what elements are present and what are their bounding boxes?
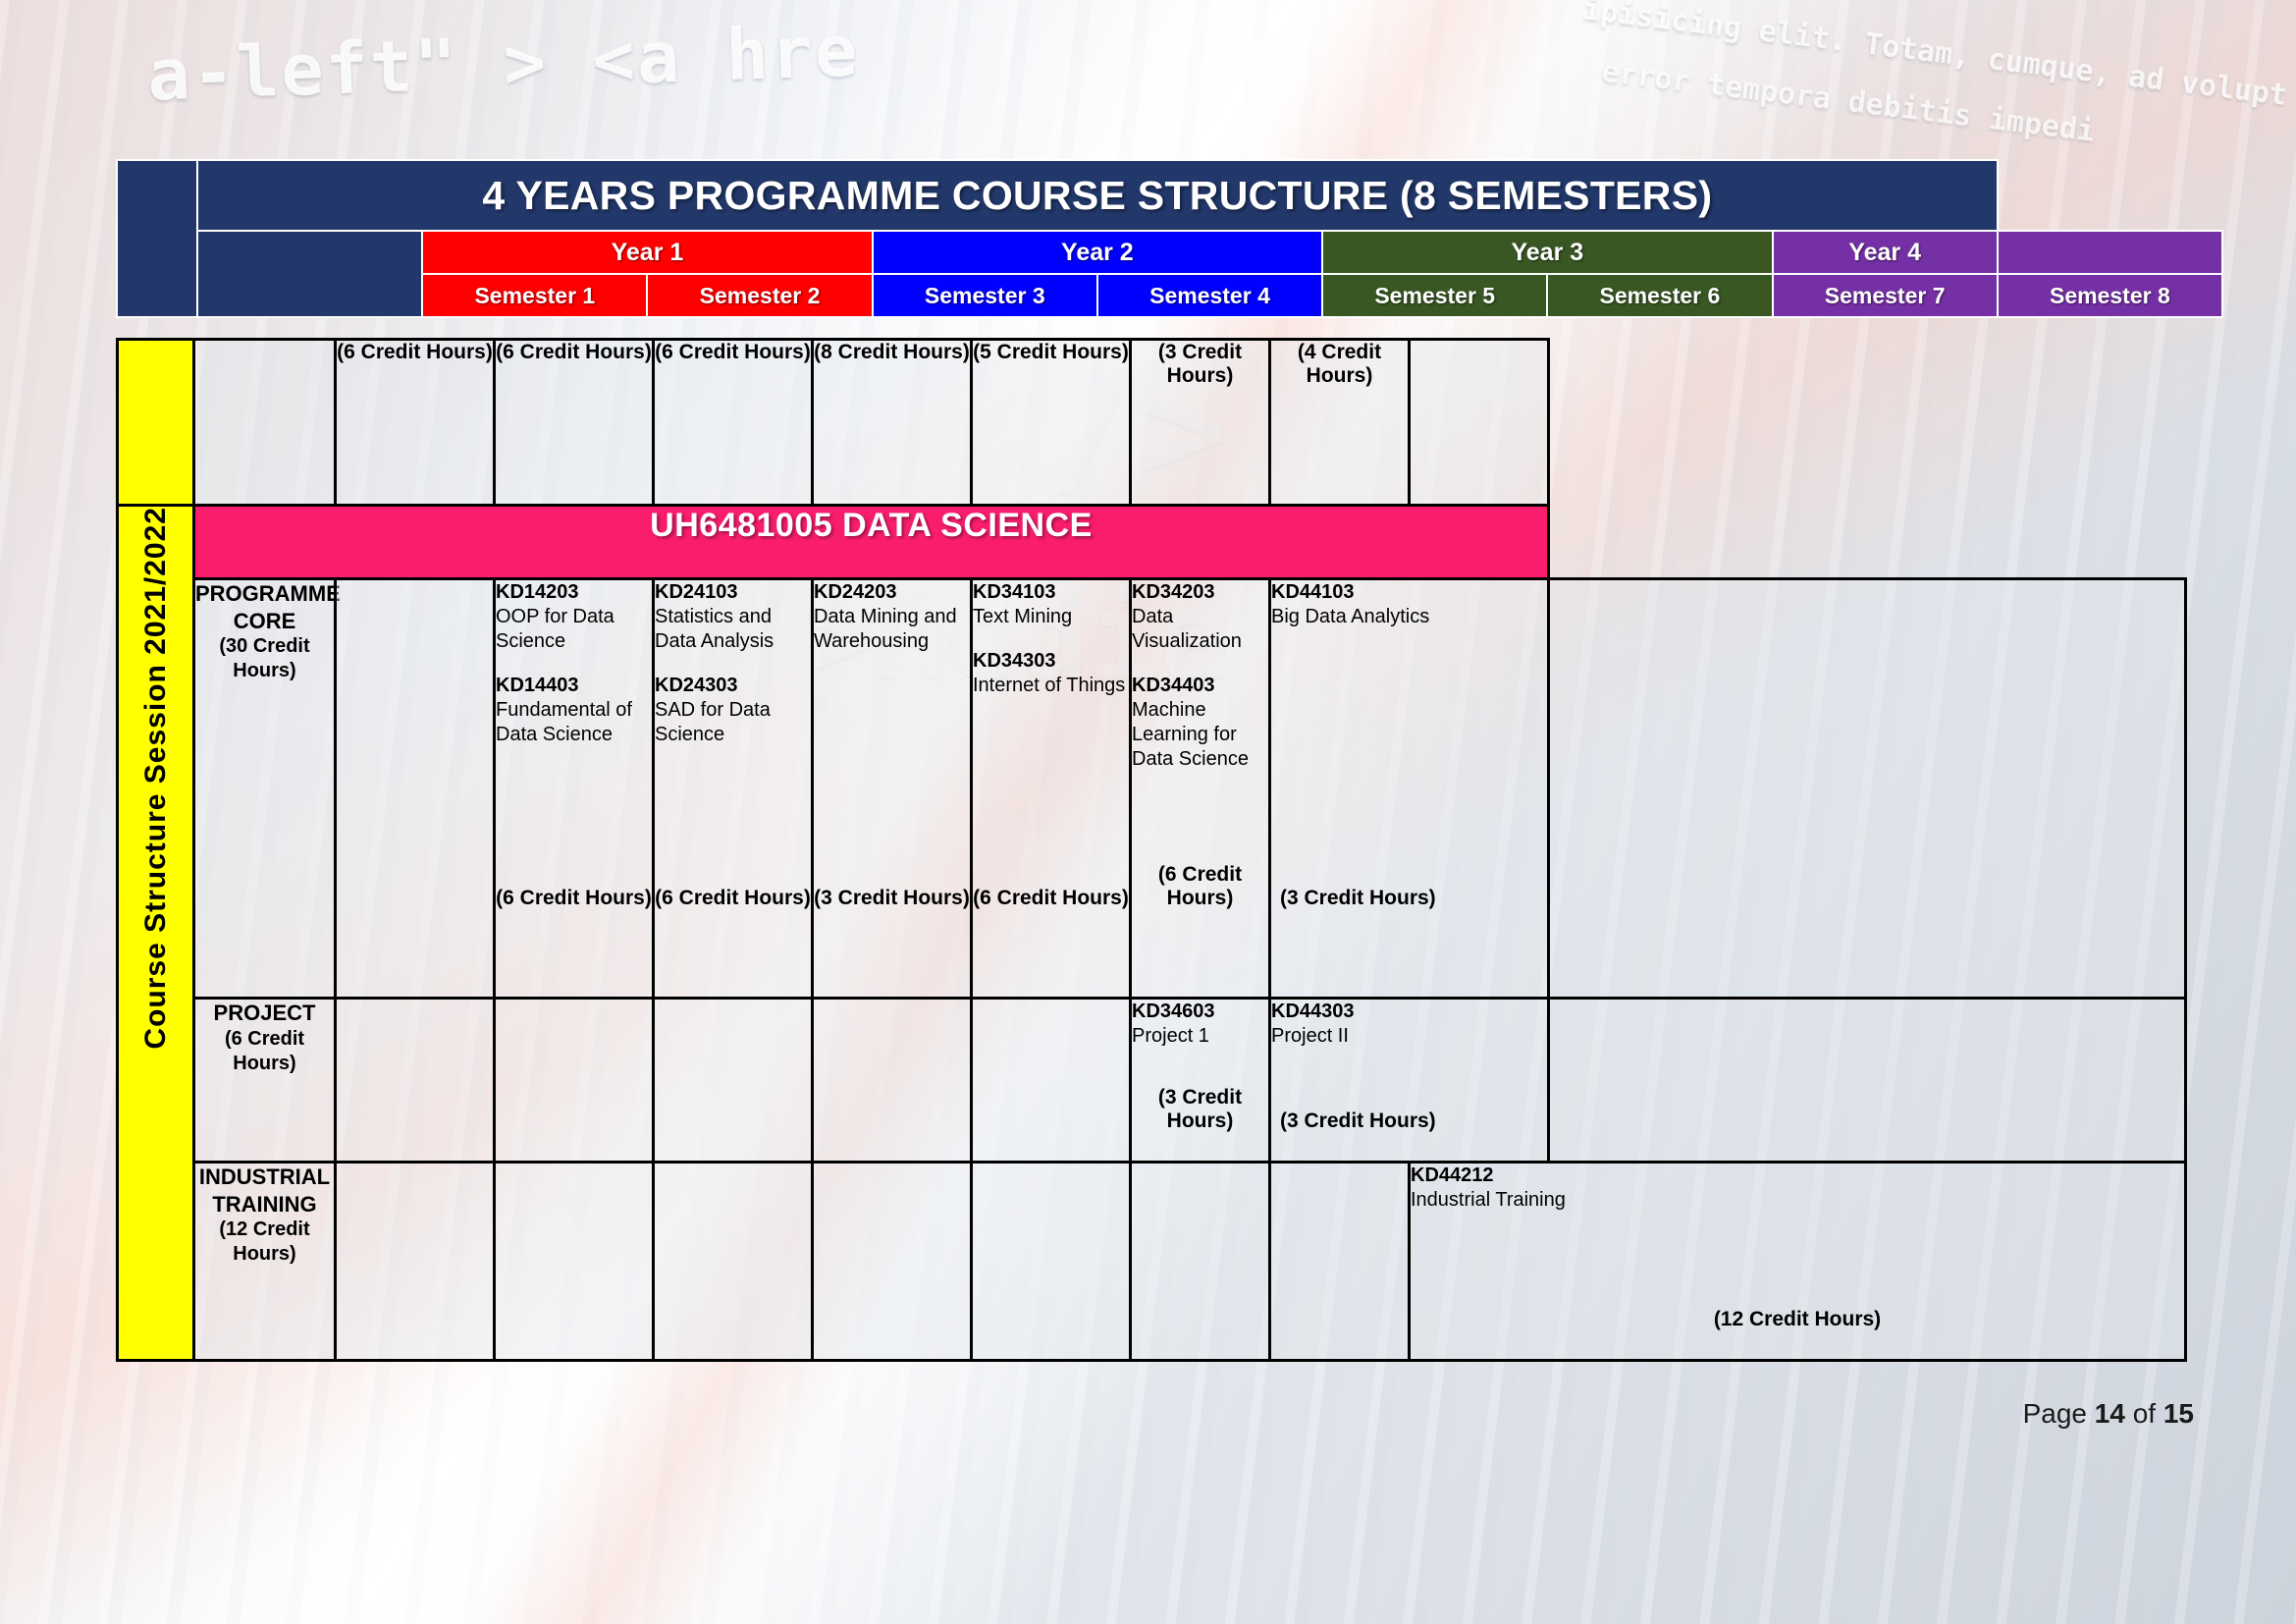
row-label-line4: Hours) <box>195 659 334 683</box>
cell-industrial-sem8: KD44212 Industrial Training (12 Credit H… <box>1410 1163 2186 1361</box>
cell-hours: (3 Credit Hours) <box>1132 1086 1268 1133</box>
semester-header-8: Semester 8 <box>1998 274 2222 317</box>
row-label-line2: (6 Credit Hours) <box>195 1027 334 1076</box>
background-code-text-1: a-left" > <a hre <box>146 9 861 116</box>
course-code: KD34103 <box>973 580 1129 605</box>
course-name: Industrial Training <box>1411 1188 2184 1213</box>
course-code: KD24203 <box>814 580 970 605</box>
course-name: Text Mining <box>973 605 1129 629</box>
semester-header-6: Semester 6 <box>1547 274 1772 317</box>
row-label-programme-core: PROGRAMME CORE (30 Credit Hours) <box>194 579 336 999</box>
row-label-line3: (30 Credit <box>195 634 334 659</box>
course-code: KD24103 <box>655 580 811 605</box>
cell-industrial-sem3 <box>654 1163 813 1361</box>
background-code-text-3: error tempora debitis impedi <box>1600 54 2097 148</box>
cell-industrial-sem1 <box>336 1163 495 1361</box>
course-code: KD34203 <box>1132 580 1268 605</box>
course-name: Internet of Things <box>973 674 1129 698</box>
programme-banner: UH6481005 DATA SCIENCE <box>194 506 1549 579</box>
semester-header-2: Semester 2 <box>647 274 872 317</box>
row-label-line2: TRAINING <box>195 1191 334 1218</box>
cell-core-sem8 <box>1549 579 2186 999</box>
cell-project-sem1 <box>336 999 495 1163</box>
cell-core-sem4: KD24203 Data Mining and Warehousing (3 C… <box>813 579 972 999</box>
footer-current-page: 14 <box>2095 1398 2125 1429</box>
year-header-4: Year 4 <box>1773 231 1998 274</box>
page-title: 4 YEARS PROGRAMME COURSE STRUCTURE (8 SE… <box>197 160 1998 231</box>
cell-industrial-sem7 <box>1270 1163 1410 1361</box>
row-label-line4: Hours) <box>195 1242 334 1267</box>
credit-hours-sem-4: (8 Credit Hours) <box>813 340 972 506</box>
semester-header-1: Semester 1 <box>422 274 647 317</box>
header-corner-blank <box>197 231 422 317</box>
cell-project-sem5 <box>972 999 1131 1163</box>
course-structure-table: (6 Credit Hours) (6 Credit Hours) (6 Cre… <box>116 338 2187 1362</box>
credit-hours-row: (6 Credit Hours) (6 Credit Hours) (6 Cre… <box>118 340 2186 506</box>
cell-core-sem2: KD14203 OOP for Data Science KD14403 Fun… <box>495 579 654 999</box>
credit-hours-sem-5: (5 Credit Hours) <box>972 340 1131 506</box>
semester-header-3: Semester 3 <box>873 274 1097 317</box>
row-label-line2: CORE <box>195 608 334 635</box>
row-label-line1: PROJECT <box>195 1000 334 1027</box>
course-name: Project 1 <box>1132 1024 1268 1049</box>
footer-total-pages: 15 <box>2163 1398 2194 1429</box>
credit-hours-sem-3: (6 Credit Hours) <box>654 340 813 506</box>
year-header-1: Year 1 <box>422 231 872 274</box>
course-name: Machine Learning for Data Science <box>1132 698 1268 772</box>
row-label-line3: (12 Credit <box>195 1218 334 1242</box>
cell-hours: (12 Credit Hours) <box>1411 1308 2184 1331</box>
course-code: KD44103 <box>1271 580 1547 605</box>
footer-middle: of <box>2125 1398 2163 1429</box>
session-sidebar-label: Course Structure Session 2021/2022 <box>139 507 173 1050</box>
row-label-project: PROJECT (6 Credit Hours) <box>194 999 336 1163</box>
course-code: KD34403 <box>1132 674 1268 698</box>
cell-core-sem6: KD34203 Data Visualization KD34403 Machi… <box>1131 579 1270 999</box>
course-name: Project II <box>1271 1024 1547 1049</box>
cell-core-sem7: KD44103 Big Data Analytics (3 Credit Hou… <box>1270 579 1549 999</box>
year-header-3: Year 3 <box>1322 231 1772 274</box>
cell-project-sem8 <box>1549 999 2186 1163</box>
cell-core-sem3: KD24103 Statistics and Data Analysis KD2… <box>654 579 813 999</box>
credit-hours-sem-6: (3 Credit Hours) <box>1131 340 1270 506</box>
course-code: KD34303 <box>973 649 1129 674</box>
cell-project-sem4 <box>813 999 972 1163</box>
year-header-2: Year 2 <box>873 231 1322 274</box>
session-sidebar: Course Structure Session 2021/2022 <box>118 506 194 1361</box>
course-name: Data Mining and Warehousing <box>814 605 970 654</box>
cell-hours: (3 Credit Hours) <box>814 887 970 910</box>
course-code: KD14403 <box>496 674 652 698</box>
course-name: Data Visualization <box>1132 605 1268 654</box>
cell-hours: (3 Credit Hours) <box>1271 887 1547 910</box>
cell-project-sem3 <box>654 999 813 1163</box>
row-label-line1: PROGRAMME <box>195 580 334 608</box>
course-name: OOP for Data Science <box>496 605 652 654</box>
cell-industrial-sem5 <box>972 1163 1131 1361</box>
cell-project-sem2 <box>495 999 654 1163</box>
cell-project-sem7: KD44303 Project II (3 Credit Hours) <box>1270 999 1549 1163</box>
semester-header-7: Semester 7 <box>1773 274 1998 317</box>
table-row: PROJECT (6 Credit Hours) KD34603 Project… <box>118 999 2186 1163</box>
footer-prefix: Page <box>2023 1398 2095 1429</box>
cell-hours: (6 Credit Hours) <box>496 887 652 910</box>
cell-hours: (6 Credit Hours) <box>655 887 811 910</box>
row-label-line1: INDUSTRIAL <box>195 1164 334 1191</box>
semester-header-5: Semester 5 <box>1322 274 1547 317</box>
cell-industrial-sem4 <box>813 1163 972 1361</box>
course-code: KD24303 <box>655 674 811 698</box>
credit-hours-sem-8 <box>1410 340 1549 506</box>
cell-core-sem5: KD34103 Text Mining KD34303 Internet of … <box>972 579 1131 999</box>
programme-banner-row: Course Structure Session 2021/2022 UH648… <box>118 506 2186 579</box>
cell-hours: (6 Credit Hours) <box>1132 863 1268 910</box>
cell-core-sem1 <box>336 579 495 999</box>
course-name: SAD for Data Science <box>655 698 811 747</box>
cell-hours-text: (12 Credit Hours) <box>1714 1308 1881 1330</box>
cell-hours: (6 Credit Hours) <box>973 887 1129 910</box>
credit-hours-rowlabel-blank <box>194 340 336 506</box>
credit-hours-sem-1: (6 Credit Hours) <box>336 340 495 506</box>
cell-project-sem6: KD34603 Project 1 (3 Credit Hours) <box>1131 999 1270 1163</box>
page-footer: Page 14 of 15 <box>0 1398 2194 1430</box>
cell-industrial-sem6 <box>1131 1163 1270 1361</box>
credit-hours-sem-2: (6 Credit Hours) <box>495 340 654 506</box>
course-code: KD44212 <box>1411 1164 2184 1188</box>
cell-hours: (3 Credit Hours) <box>1271 1110 1547 1133</box>
row-label-industrial-training: INDUSTRIAL TRAINING (12 Credit Hours) <box>194 1163 336 1361</box>
year-header-4-cont <box>1998 231 2222 274</box>
course-code: KD34603 <box>1132 1000 1268 1024</box>
header-corner-left <box>117 160 197 317</box>
header-table: 4 YEARS PROGRAMME COURSE STRUCTURE (8 SE… <box>116 159 2223 318</box>
session-sidebar-top <box>118 340 194 506</box>
semester-header-4: Semester 4 <box>1097 274 1322 317</box>
course-code: KD14203 <box>496 580 652 605</box>
course-code: KD44303 <box>1271 1000 1547 1024</box>
table-row: PROGRAMME CORE (30 Credit Hours) KD14203… <box>118 579 2186 999</box>
credit-hours-sem-7: (4 Credit Hours) <box>1270 340 1410 506</box>
background-code-text-2: ipisicing elit. Totam, cumque, ad volupt <box>1581 0 2289 113</box>
table-row: INDUSTRIAL TRAINING (12 Credit Hours) KD… <box>118 1163 2186 1361</box>
course-name: Statistics and Data Analysis <box>655 605 811 654</box>
course-name: Fundamental of Data Science <box>496 698 652 747</box>
course-name: Big Data Analytics <box>1271 605 1547 629</box>
cell-industrial-sem2 <box>495 1163 654 1361</box>
